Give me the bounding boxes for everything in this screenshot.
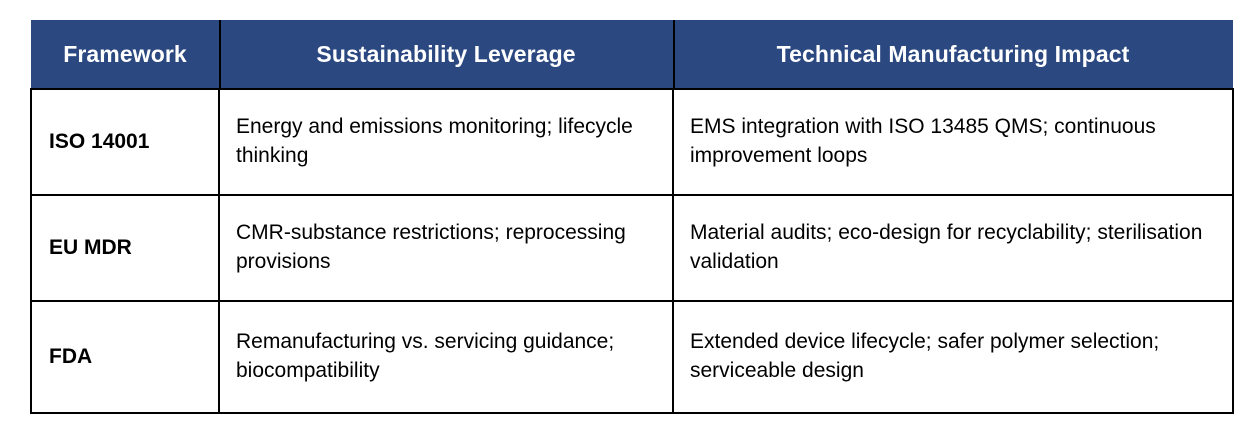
framework-comparison-table: Framework Sustainability Leverage Techni… xyxy=(30,20,1234,414)
cell-technical-manufacturing-impact: EMS integration with ISO 13485 QMS; cont… xyxy=(673,89,1233,195)
cell-framework: EU MDR xyxy=(31,195,219,301)
cell-framework: ISO 14001 xyxy=(31,89,219,195)
table-row: ISO 14001 Energy and emissions monitorin… xyxy=(31,89,1233,195)
cell-technical-manufacturing-impact: Material audits; eco-design for recyclab… xyxy=(673,195,1233,301)
framework-name: ISO 14001 xyxy=(49,128,204,157)
technical-text: Material audits; eco-design for recyclab… xyxy=(690,219,1218,277)
table-row: FDA Remanufacturing vs. servicing guidan… xyxy=(31,301,1233,413)
sustainability-text: Energy and emissions monitoring; lifecyc… xyxy=(236,113,658,171)
table-row: EU MDR CMR-substance restrictions; repro… xyxy=(31,195,1233,301)
column-header-framework: Framework xyxy=(31,20,219,89)
cell-sustainability-leverage: CMR-substance restrictions; reprocessing… xyxy=(219,195,673,301)
column-header-sustainability-leverage: Sustainability Leverage xyxy=(219,20,673,89)
framework-name: FDA xyxy=(49,343,204,372)
table-header: Framework Sustainability Leverage Techni… xyxy=(31,20,1233,89)
cell-technical-manufacturing-impact: Extended device lifecycle; safer polymer… xyxy=(673,301,1233,413)
framework-name: EU MDR xyxy=(49,234,204,263)
sustainability-text: CMR-substance restrictions; reprocessing… xyxy=(236,219,658,277)
technical-text: Extended device lifecycle; safer polymer… xyxy=(690,328,1218,386)
sustainability-text: Remanufacturing vs. servicing guidance; … xyxy=(236,328,658,386)
cell-sustainability-leverage: Remanufacturing vs. servicing guidance; … xyxy=(219,301,673,413)
header-row: Framework Sustainability Leverage Techni… xyxy=(31,20,1233,89)
table-body: ISO 14001 Energy and emissions monitorin… xyxy=(31,89,1233,413)
column-header-technical-manufacturing-impact: Technical Manufacturing Impact xyxy=(673,20,1233,89)
cell-sustainability-leverage: Energy and emissions monitoring; lifecyc… xyxy=(219,89,673,195)
cell-framework: FDA xyxy=(31,301,219,413)
framework-comparison-table-container: Framework Sustainability Leverage Techni… xyxy=(30,20,1232,414)
technical-text: EMS integration with ISO 13485 QMS; cont… xyxy=(690,113,1218,171)
